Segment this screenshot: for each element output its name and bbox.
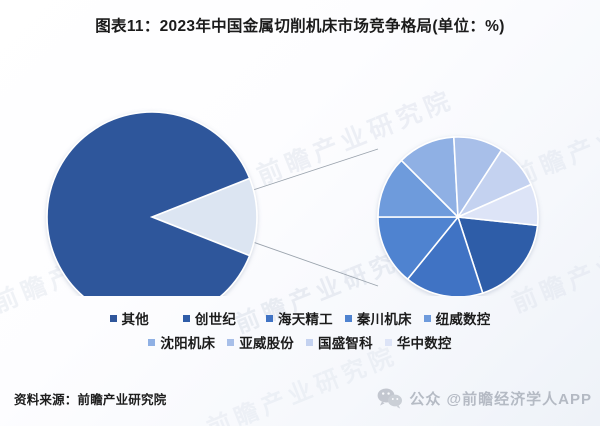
legend-swatch-icon (227, 339, 234, 346)
legend-item-qinchuanjichuang[interactable]: 秦川机床 (345, 308, 412, 328)
legend-swatch-icon (385, 339, 392, 346)
chart-title: 图表11：2023年中国金属切削机床市场竞争格局(单位：%) (0, 14, 600, 36)
legend-swatch-icon (148, 339, 155, 346)
wechat-label: 公众 @前瞻经济学人APP (409, 388, 592, 409)
chart-canvas: 前瞻产业研究院 前瞻产业研究院 前瞻产业研究院 前瞻产业研究院 前瞻产业研究院 … (0, 0, 600, 426)
legend-swatch-icon (110, 315, 117, 322)
legend-label: 亚威股份 (239, 332, 294, 352)
legend-label: 华中数控 (397, 332, 452, 352)
legend-label: 沈阳机床 (160, 332, 215, 352)
legend-item-chuangshiji[interactable]: 创世纪 (183, 308, 236, 328)
legend-swatch-icon (266, 315, 273, 322)
source-note: 资料来源：前瞻产业研究院 (14, 389, 166, 408)
legend-item-haitianjinggong[interactable]: 海天精工 (266, 308, 333, 328)
legend-row-2: 沈阳机床 亚威股份 国盛智科 华中数控 (0, 330, 600, 354)
legend-swatch-icon (183, 315, 190, 322)
legend-item-guoshengzhike[interactable]: 国盛智科 (306, 332, 373, 352)
legend-item-qita[interactable]: 其他 (110, 308, 149, 328)
connector-lines (253, 149, 378, 286)
pie-svg (0, 46, 600, 296)
legend-item-shenyangjichuang[interactable]: 沈阳机床 (148, 332, 215, 352)
legend-label: 秦川机床 (357, 308, 412, 328)
legend-row-1: 其他 创世纪 海天精工 秦川机床 纽威数控 (0, 306, 600, 330)
legend: 其他 创世纪 海天精工 秦川机床 纽威数控 沈阳机床 (0, 306, 600, 354)
legend-swatch-icon (345, 315, 352, 322)
legend-item-niuweishukong[interactable]: 纽威数控 (424, 308, 491, 328)
legend-label: 海天精工 (278, 308, 333, 328)
primary-pie (47, 112, 257, 296)
legend-swatch-icon (306, 339, 313, 346)
legend-label: 创世纪 (195, 308, 236, 328)
legend-label: 国盛智科 (318, 332, 373, 352)
legend-label: 纽威数控 (436, 308, 491, 328)
legend-label: 其他 (122, 308, 149, 328)
wechat-icon (377, 387, 403, 409)
pie-of-pie-plot (0, 46, 600, 296)
legend-swatch-icon (424, 315, 431, 322)
secondary-pie (378, 137, 538, 296)
legend-item-huazhongshukong[interactable]: 华中数控 (385, 332, 452, 352)
wechat-watermark: 公众 @前瞻经济学人APP (377, 387, 592, 409)
legend-item-yaweigufen[interactable]: 亚威股份 (227, 332, 294, 352)
